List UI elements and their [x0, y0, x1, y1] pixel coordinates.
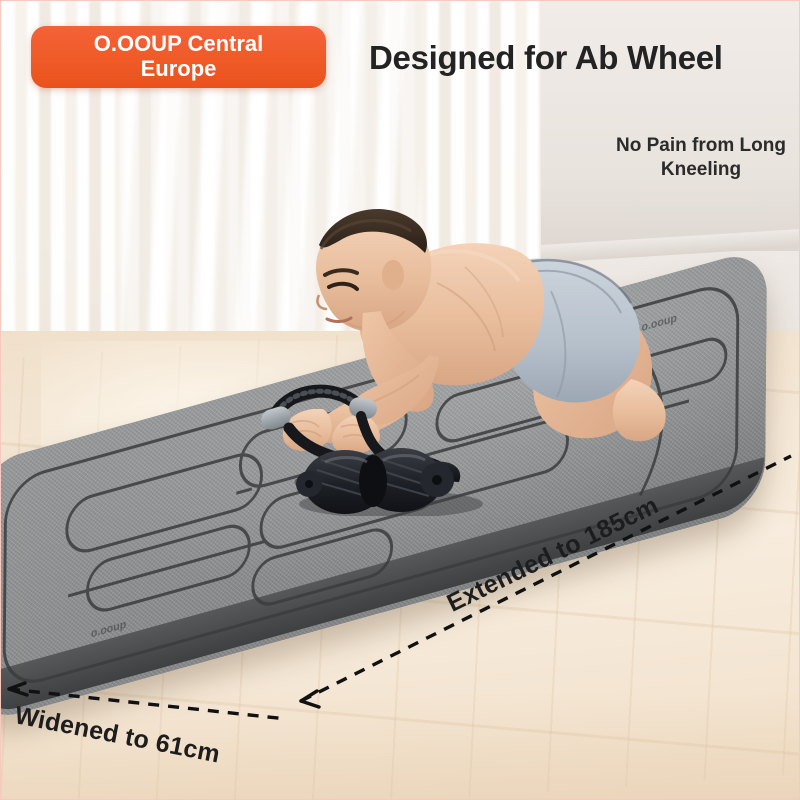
brand-badge-line2: Europe: [141, 56, 217, 81]
ab-wheel-device: [241, 376, 501, 516]
headline-text: Designed for Ab Wheel: [369, 39, 800, 77]
brand-badge-text: O.OOUP Central Europe: [84, 32, 274, 81]
subheadline-line1: No Pain from Long: [616, 135, 786, 156]
brand-badge-line1: O.OOUP Central: [94, 31, 264, 56]
subheadline-line2: Kneeling: [661, 159, 741, 180]
product-marketing-image: o.ooup o.ooup o.ooup: [0, 0, 800, 800]
brand-badge[interactable]: O.OOUP Central Europe: [31, 26, 326, 88]
svg-text:o.ooup: o.ooup: [91, 618, 127, 640]
subheadline-text: No Pain from Long Kneeling: [571, 134, 800, 183]
